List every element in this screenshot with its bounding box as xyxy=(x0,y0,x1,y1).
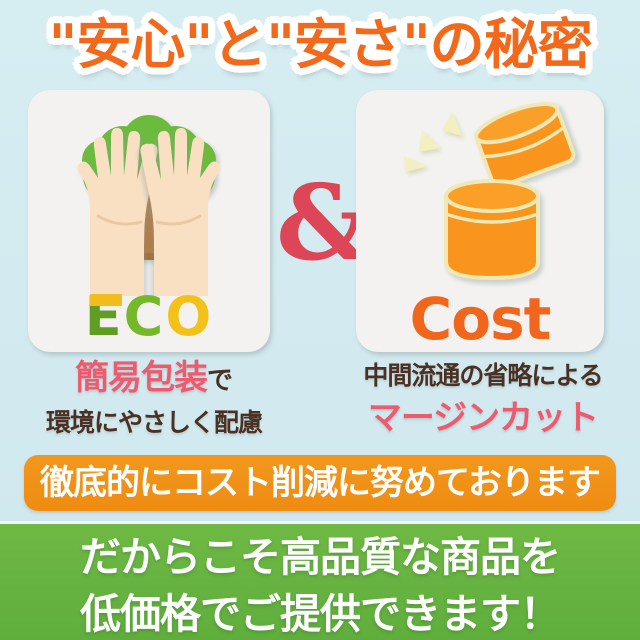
cost-reduction-banner: 徹底的にコスト削減に努めております xyxy=(24,455,616,511)
eco-letter-c: C xyxy=(124,285,166,348)
caption-right-line1: 中間流通の省略による xyxy=(342,358,624,398)
banner-title-area: "安心"と"安さ"の秘密 xyxy=(0,8,640,82)
caption-right-highlight: マージンカット xyxy=(368,398,598,438)
can-with-popping-lid-icon xyxy=(356,90,604,288)
cost-label: Cost xyxy=(356,288,604,350)
caption-right-subtext: 中間流通の省略による xyxy=(363,361,602,390)
spark-lines-icon xyxy=(404,112,462,172)
caption-right: 中間流通の省略による マージンカット xyxy=(342,358,624,445)
can-body-icon xyxy=(446,181,538,278)
eco-card: ECO xyxy=(28,90,270,352)
caption-right-line2: マージンカット xyxy=(342,398,624,445)
cost-reduction-banner-text: 徹底的にコスト削減に努めております xyxy=(24,455,616,511)
caption-left: 簡易包装で 環境にやさしく配慮 xyxy=(18,358,290,445)
promo-banner: "安心"と"安さ"の秘密 xyxy=(0,0,640,640)
cost-illustration xyxy=(356,90,604,288)
footer-line-1: だからこそ高品質な商品を xyxy=(0,524,640,588)
eco-label: ECO xyxy=(28,288,270,346)
hands-holding-tree-icon xyxy=(28,90,270,296)
eco-letter-e: E xyxy=(85,288,124,346)
caption-left-line1: 簡易包装で xyxy=(18,358,290,405)
page-title: "安心"と"安さ"の秘密 xyxy=(48,8,591,82)
caption-left-line2: 環境にやさしく配慮 xyxy=(18,405,290,445)
eco-illustration xyxy=(28,90,270,296)
can-lid-icon xyxy=(472,96,576,188)
caption-left-suffix: で xyxy=(207,366,233,396)
caption-left-highlight: 簡易包装 xyxy=(75,358,207,398)
cost-card: Cost xyxy=(356,90,604,352)
footer-message: だからこそ高品質な商品を 低価格でご提供できます！ xyxy=(0,521,640,640)
eco-letter-o: O xyxy=(165,285,213,348)
caption-left-subtext: 環境にやさしく配慮 xyxy=(46,408,262,437)
ampersand-connector: & xyxy=(276,168,364,278)
footer-line-2: 低価格でご提供できます！ xyxy=(0,588,640,640)
